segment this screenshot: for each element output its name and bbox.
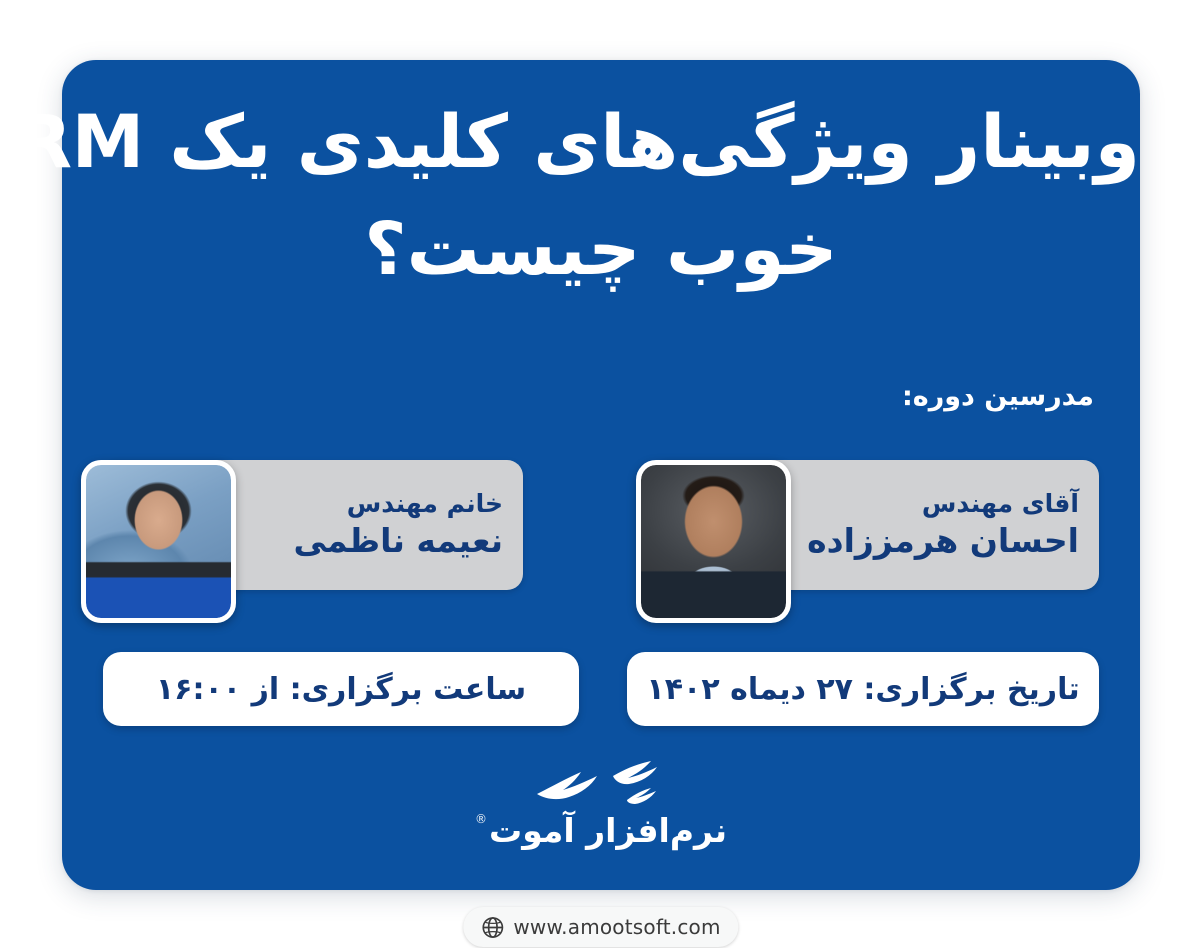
instructor-female-text: خانم مهندس نعیمه ناظمی [235,460,503,590]
title-line-1: وبینار ویژگی‌های کلیدی یک CRM [62,106,1140,179]
brand-wordmark-wrap: نرم‌افزار آموت ® [475,814,727,847]
event-time-label: ساعت برگزاری: از ۱۶:۰۰ [156,672,526,707]
website-url: www.amootsoft.com [513,915,720,939]
poster-panel: وبینار ویژگی‌های کلیدی یک CRM خوب چیست؟ … [62,60,1140,890]
website-pill[interactable]: www.amootsoft.com [463,907,738,947]
event-date-label: تاریخ برگزاری: ۲۷ دیماه ۱۴۰۲ [646,672,1079,707]
instructor-male-text: آقای مهندس احسان هرمززاده [804,460,1079,590]
avatar-male [636,460,791,623]
seagulls-icon [501,760,701,812]
instructors-heading: مدرسین دوره: [902,381,1094,412]
instructor-male-name: احسان هرمززاده [804,522,1079,561]
schedule-row: تاریخ برگزاری: ۲۷ دیماه ۱۴۰۲ ساعت برگزار… [103,652,1099,744]
instructor-male-honorific: آقای مهندس [804,489,1079,519]
female-instructor-photo [86,465,231,618]
male-instructor-photo [641,465,786,618]
title-line-2: خوب چیست؟ [62,213,1140,286]
globe-icon [481,916,504,939]
brand-logo: نرم‌افزار آموت ® [62,760,1140,847]
avatar-female [81,460,236,623]
event-time-pill: ساعت برگزاری: از ۱۶:۰۰ [103,652,579,726]
poster-stage: وبینار ویژگی‌های کلیدی یک CRM خوب چیست؟ … [0,0,1200,948]
brand-wordmark: نرم‌افزار آموت [489,814,727,847]
instructor-female-name: نعیمه ناظمی [235,522,503,561]
instructor-card-female[interactable]: خانم مهندس نعیمه ناظمی [103,460,523,590]
registered-trademark-icon: ® [475,812,487,826]
instructor-card-male[interactable]: آقای مهندس احسان هرمززاده [654,460,1099,590]
instructors-row: آقای مهندس احسان هرمززاده خانم مهندس نعی… [103,444,1099,614]
event-date-pill: تاریخ برگزاری: ۲۷ دیماه ۱۴۰۲ [627,652,1099,726]
page-title: وبینار ویژگی‌های کلیدی یک CRM خوب چیست؟ [62,106,1140,286]
instructor-female-honorific: خانم مهندس [235,489,503,519]
